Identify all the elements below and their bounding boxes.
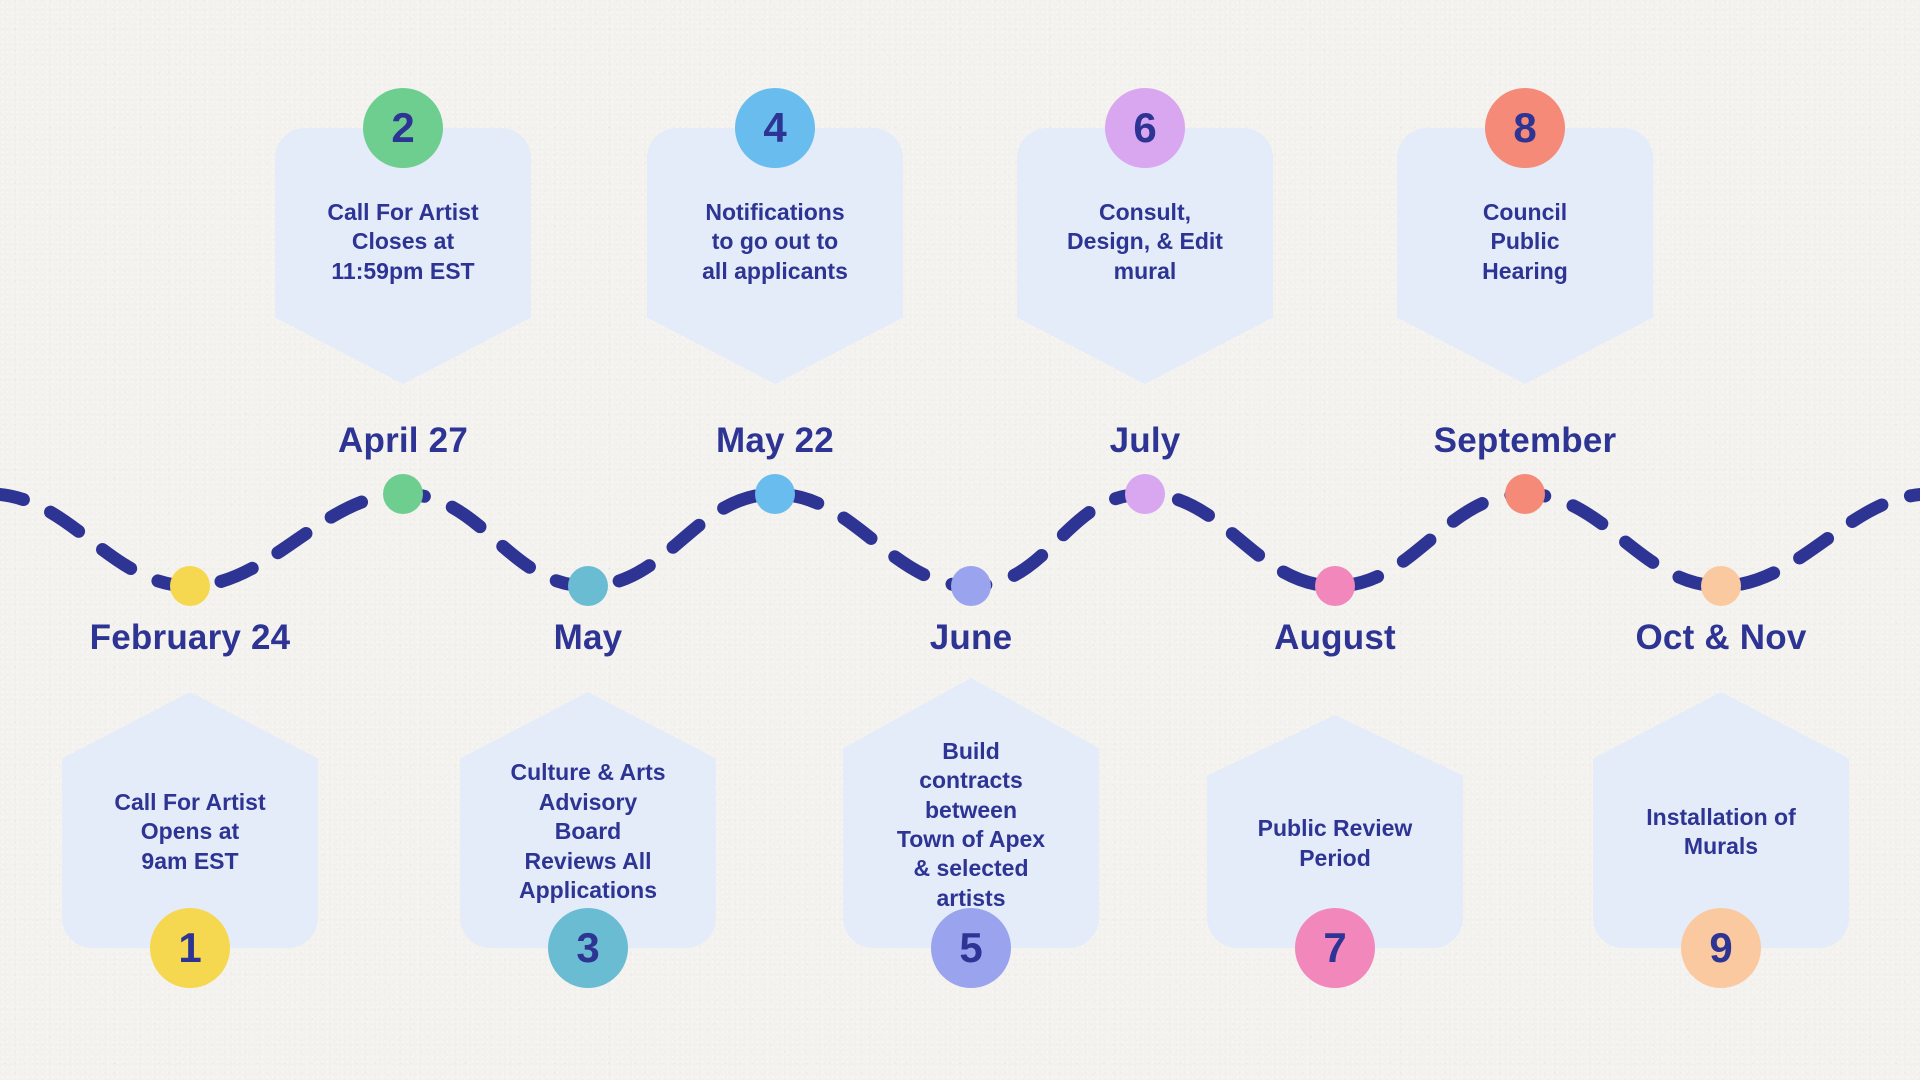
milestone-body: Culture & Arts Advisory Board Reviews Al…	[496, 758, 679, 905]
milestone-body: Installation of Murals	[1632, 803, 1810, 862]
milestone-dot	[1315, 566, 1355, 606]
milestone-body: Notifications to go out to all applicant…	[688, 198, 862, 286]
milestone-number-badge[interactable]: 5	[931, 908, 1011, 988]
milestone-body: Build contracts between Town of Apex & s…	[883, 737, 1059, 914]
milestone-body: Public Review Period	[1244, 814, 1427, 873]
milestone-number-badge[interactable]: 7	[1295, 908, 1375, 988]
milestone-body: Consult, Design, & Edit mural	[1053, 198, 1237, 286]
milestone-month-label: April 27	[338, 423, 468, 458]
milestone-dot	[568, 566, 608, 606]
milestone-dot	[1505, 474, 1545, 514]
milestone-body: Council Public Hearing	[1468, 198, 1582, 286]
milestone-dot	[1701, 566, 1741, 606]
milestone-number-badge[interactable]: 2	[363, 88, 443, 168]
milestone-number-badge[interactable]: 1	[150, 908, 230, 988]
milestone-number-badge[interactable]: 8	[1485, 88, 1565, 168]
milestone-month-label: August	[1274, 620, 1396, 655]
milestone-month-label: February 24	[90, 620, 291, 655]
milestone-dot	[755, 474, 795, 514]
milestone-month-label: May 22	[716, 423, 834, 458]
milestone-dot	[383, 474, 423, 514]
milestone-body: Call For Artist Closes at 11:59pm EST	[313, 198, 492, 286]
milestone-number-badge[interactable]: 3	[548, 908, 628, 988]
milestone-month-label: May	[554, 620, 623, 655]
milestone-number-badge[interactable]: 6	[1105, 88, 1185, 168]
milestone-dot	[170, 566, 210, 606]
milestone-month-label: September	[1434, 423, 1617, 458]
milestone-month-label: June	[930, 620, 1013, 655]
milestone-number-badge[interactable]: 4	[735, 88, 815, 168]
milestone-body: Call For Artist Opens at 9am EST	[100, 788, 279, 876]
milestone-month-label: Oct & Nov	[1636, 620, 1807, 655]
milestone-dot	[1125, 474, 1165, 514]
timeline-stage: Call For Artist Closes at 11:59pm EST 2 …	[0, 0, 1920, 1080]
milestone-number-badge[interactable]: 9	[1681, 908, 1761, 988]
milestone-dot	[951, 566, 991, 606]
milestone-month-label: July	[1110, 423, 1181, 458]
